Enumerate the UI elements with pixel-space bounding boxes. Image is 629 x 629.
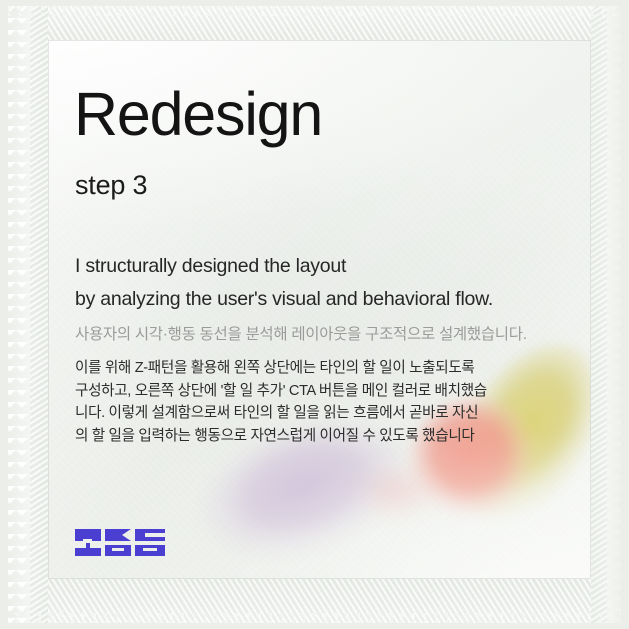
korean-subline: 사용자의 시각·행동 동선을 분석해 레이아웃을 구조적으로 설계했습니다. [75, 324, 527, 346]
korean-body-paragraph: 이를 위해 Z-패턴을 활용해 왼쪽 상단에는 타인의 할 일이 노출되도록 구… [75, 357, 487, 447]
body-line-3: 니다. 이렇게 설계함으로써 타인의 할 일을 읽는 흐름에서 곧바로 자신 [75, 402, 487, 425]
body-line-1: 이를 위해 Z-패턴을 활용해 왼쪽 상단에는 타인의 할 일이 노출되도록 [75, 357, 487, 380]
slide-canvas: Redesign step 3 I structurally designed … [0, 0, 629, 629]
lead-paragraph: I structurally designed the layout by an… [75, 250, 493, 316]
step-label: step 3 [75, 172, 147, 199]
page-title: Redesign [74, 84, 322, 145]
doodream-logo [74, 527, 166, 563]
lead-line-1: I structurally designed the layout [75, 250, 493, 283]
foil-packet: Redesign step 3 I structurally designed … [8, 6, 621, 623]
doodream-logo-mark [74, 527, 166, 563]
slide-content: Redesign step 3 I structurally designed … [8, 6, 621, 623]
body-line-4: 의 할 일을 입력하는 행동으로 자연스럽게 이어질 수 있도록 했습니다 [75, 425, 487, 448]
lead-line-2: by analyzing the user's visual and behav… [75, 283, 493, 316]
body-line-2: 구성하고, 오른쪽 상단에 '할 일 추가' CTA 버튼을 메인 컬러로 배치… [75, 380, 487, 403]
